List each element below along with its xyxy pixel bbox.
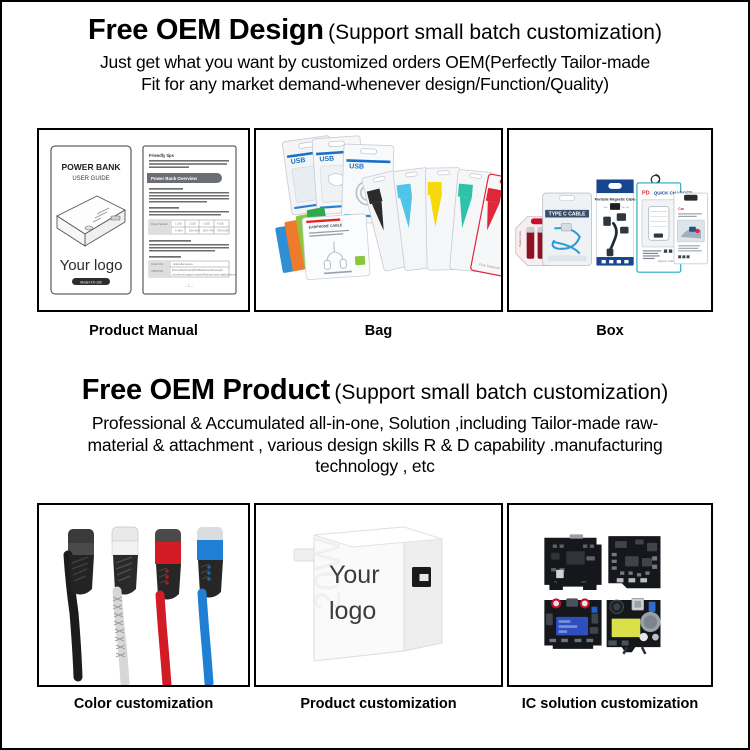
section-2-captions: Color customization Product customizatio… bbox=[37, 696, 713, 712]
svg-text:0~25%: 0~25% bbox=[175, 230, 183, 233]
section-1-panel-row: POWER BANK USER GUIDE Your logo bbox=[37, 128, 713, 312]
svg-text:USB/5V/2A: USB/5V/2A bbox=[151, 270, 163, 273]
caption-ic-solution-customization: IC solution customization bbox=[507, 696, 713, 712]
svg-text:3IN1: 3IN1 bbox=[603, 207, 608, 209]
section-1-headline: Free OEM Design (Support small batch cus… bbox=[2, 2, 748, 45]
svg-text:Power Indicator: Power Indicator bbox=[151, 223, 168, 226]
svg-text:Friendly tips: Friendly tips bbox=[149, 153, 175, 158]
section-1-title-sub: (Support small batch customization) bbox=[328, 21, 662, 44]
svg-text:ony phones/Logitech camera/Pad: ony phones/Logitech camera/Pads and othe… bbox=[172, 274, 236, 277]
svg-text:Magnetic Cable: Magnetic Cable bbox=[658, 260, 675, 263]
caption-color-customization: Color customization bbox=[37, 696, 250, 712]
section-2-title-sub: (Support small batch customization) bbox=[334, 381, 668, 404]
svg-text:PD: PD bbox=[642, 191, 650, 197]
section-2-headline: Free OEM Product (Support small batch cu… bbox=[2, 376, 748, 405]
caption-product-manual: Product Manual bbox=[37, 323, 250, 339]
svg-text:25%~50%: 25%~50% bbox=[189, 230, 201, 233]
svg-text:logo: logo bbox=[329, 597, 376, 625]
section-2-body-line-2: material & attachment , various design s… bbox=[34, 435, 716, 457]
svg-text:50%~75%: 50%~75% bbox=[203, 230, 215, 233]
panel-ic-solution-customization: IN OUT bbox=[507, 503, 713, 687]
section-1-body-line-1: Just get what you want by customized ord… bbox=[28, 52, 722, 74]
section-1-body: Just get what you want by customized ord… bbox=[2, 45, 748, 95]
product-manual-illustration: POWER BANK USER GUIDE Your logo bbox=[39, 130, 248, 310]
svg-text:POWER BANK: POWER BANK bbox=[61, 162, 121, 172]
svg-text:4 LED: 4 LED bbox=[217, 223, 224, 226]
panel-bag: USB USB USB bbox=[254, 128, 503, 312]
section-2-body-line-1: Professional & Accumulated all-in-one, S… bbox=[34, 413, 716, 435]
ic-boards-illustration: IN OUT bbox=[509, 505, 711, 685]
svg-text:IN: IN bbox=[554, 582, 557, 584]
svg-text:iPhone/iPad/Android/PC/Blackbe: iPhone/iPad/Android/PC/Blackberry/Samsun… bbox=[172, 269, 223, 272]
cables-illustration bbox=[39, 505, 248, 685]
svg-text:Portable Magnetic Cable: Portable Magnetic Cable bbox=[595, 198, 636, 202]
section-2-header: Free OEM Product (Support small batch cu… bbox=[2, 376, 748, 478]
svg-text:75%~100%: 75%~100% bbox=[217, 230, 230, 233]
svg-text:Braided Cable: Braided Cable bbox=[519, 230, 522, 247]
section-2-body-line-3: technology , etc bbox=[34, 456, 716, 478]
svg-text:USB: USB bbox=[319, 156, 334, 164]
panel-color-customization bbox=[37, 503, 250, 687]
caption-box: Box bbox=[507, 323, 713, 339]
svg-text:Applicable devices: Applicable devices bbox=[173, 263, 194, 266]
svg-text:Your: Your bbox=[329, 561, 380, 589]
svg-text:2 LED: 2 LED bbox=[189, 223, 196, 226]
svg-text:USB: USB bbox=[349, 163, 364, 171]
section-1-title-strong: Free OEM Design bbox=[88, 14, 324, 46]
svg-text:5A / 3A: 5A / 3A bbox=[622, 206, 630, 209]
svg-text:Model XX-100: Model XX-100 bbox=[80, 280, 102, 284]
svg-text:-- 1 --: -- 1 -- bbox=[185, 284, 193, 288]
svg-text:TYPE C CABLE: TYPE C CABLE bbox=[549, 212, 587, 218]
caption-bag: Bag bbox=[254, 323, 503, 339]
svg-text:Car: Car bbox=[678, 207, 684, 211]
bag-illustration: USB USB USB bbox=[256, 130, 501, 310]
svg-text:OUT: OUT bbox=[581, 582, 587, 584]
svg-text:USER GUIDE: USER GUIDE bbox=[72, 176, 109, 182]
svg-text:Your logo: Your logo bbox=[60, 257, 123, 274]
panel-box: Braided Cable TYPE C CABLE bbox=[507, 128, 713, 312]
svg-text:1 LED: 1 LED bbox=[175, 223, 182, 226]
section-2-panel-row: 20W Your logo bbox=[37, 503, 713, 687]
box-illustration: Braided Cable TYPE C CABLE bbox=[509, 130, 711, 310]
panel-product-customization: 20W Your logo bbox=[254, 503, 503, 687]
section-1-body-line-2: Fit for any market demand-whenever desig… bbox=[28, 74, 722, 96]
section-2-title-strong: Free OEM Product bbox=[82, 374, 330, 406]
svg-text:3 LED: 3 LED bbox=[203, 223, 210, 226]
charger-illustration: 20W Your logo bbox=[256, 505, 501, 685]
oem-capability-page: Free OEM Design (Support small batch cus… bbox=[0, 0, 750, 750]
svg-text:Power Bank Overview: Power Bank Overview bbox=[151, 176, 197, 181]
caption-product-customization: Product customization bbox=[254, 696, 503, 712]
panel-product-manual: POWER BANK USER GUIDE Your logo bbox=[37, 128, 250, 312]
section-2-body: Professional & Accumulated all-in-one, S… bbox=[2, 405, 748, 478]
section-1-captions: Product Manual Bag Box bbox=[37, 323, 713, 339]
svg-text:Output Port: Output Port bbox=[151, 263, 164, 266]
